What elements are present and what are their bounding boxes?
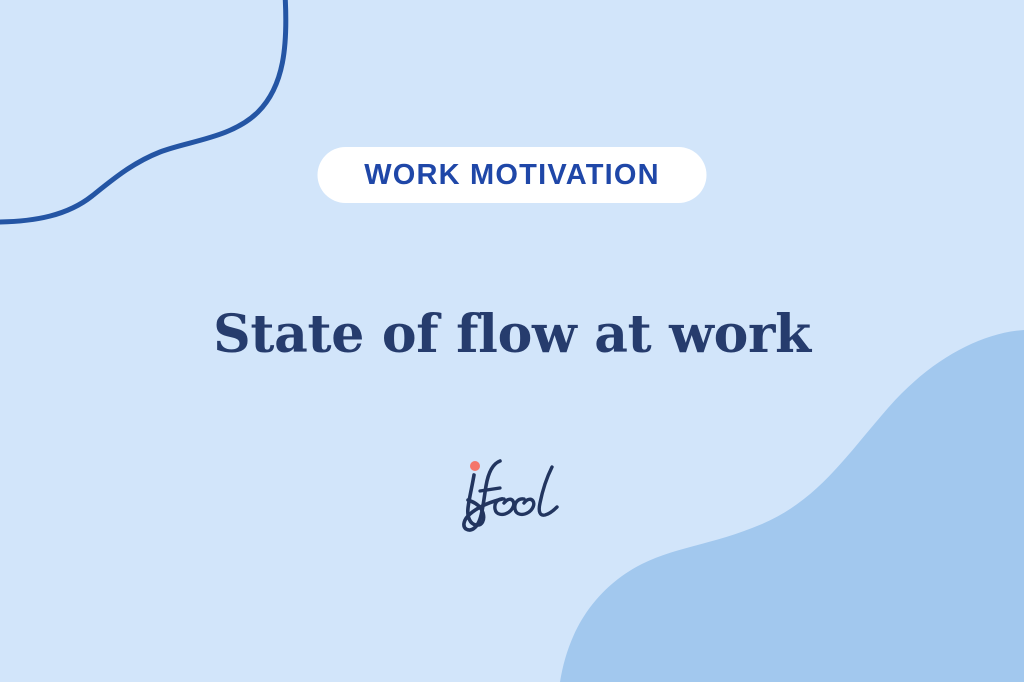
slide-canvas: WORK MOTIVATION State of flow at work <box>0 0 1024 682</box>
logo-dot-icon <box>470 461 480 471</box>
category-badge-label: WORK MOTIVATION <box>364 161 660 190</box>
logo-wordmark-text: ifeel <box>452 533 453 534</box>
content-stack: WORK MOTIVATION State of flow at work <box>0 0 1024 682</box>
logo-letter-e-2 <box>515 499 534 515</box>
logo-letter-l <box>539 467 557 515</box>
logo-letter-e-1 <box>495 499 514 515</box>
ifeel-logo: ifeel <box>452 455 572 533</box>
page-title: State of flow at work <box>213 305 811 365</box>
category-badge[interactable]: WORK MOTIVATION <box>318 147 707 203</box>
logo-letter-f-crossbar <box>480 488 500 491</box>
